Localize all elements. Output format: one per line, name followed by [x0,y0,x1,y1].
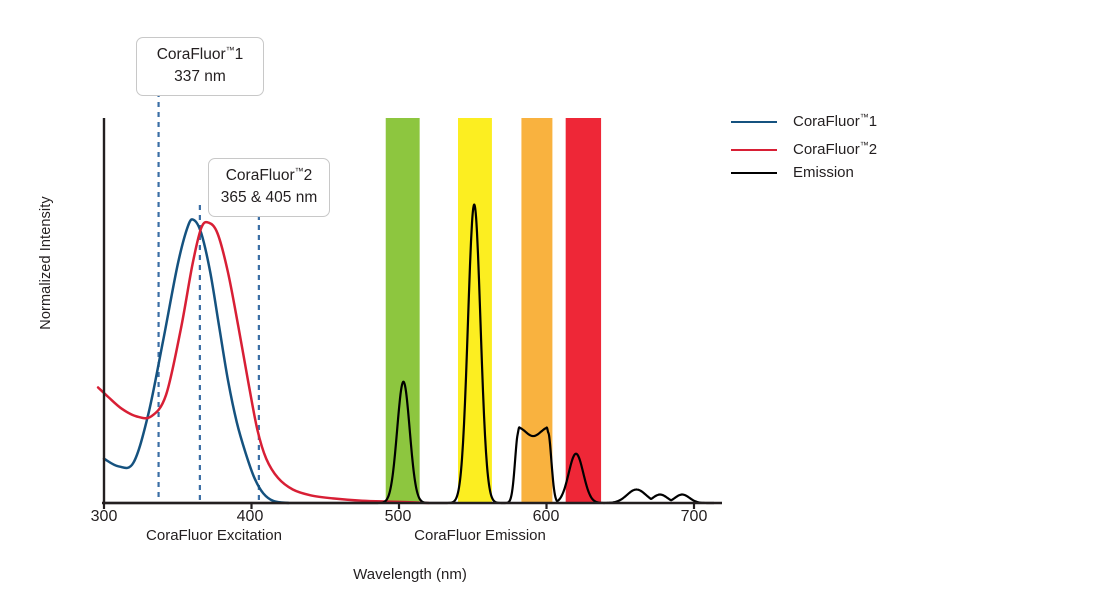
x-tick-300: 300 [74,508,134,526]
green-band [386,118,420,503]
legend-label-1: CoraFluor™2 [793,141,877,158]
x-tick-600: 600 [516,508,576,526]
red-band [566,118,601,503]
orange-band [521,118,552,503]
x-tick-400: 400 [220,508,280,526]
callout-1-line1: CoraFluor™1 [147,44,253,66]
curve-corafluor-1 [104,219,288,503]
x-tick-700: 700 [664,508,724,526]
legend-item-emission: Emission [731,164,854,181]
legend-swatch-line-1 [731,149,777,151]
x-tick-500: 500 [368,508,428,526]
legend-item-corafluor-1: CoraFluor™1 [731,113,877,130]
legend-label-2: Emission [793,164,854,181]
callout-corafluor-2: CoraFluor™2 365 & 405 nm [208,158,330,217]
callout-1-line2: 337 nm [147,66,253,88]
plot-area: Normalized Intensity 300 400 500 600 700… [0,0,730,612]
section-label-excitation: CoraFluor Excitation [134,527,294,544]
legend-swatch-line-0 [731,121,777,123]
chart-root: Normalized Intensity 300 400 500 600 700… [0,0,1110,612]
callout-2-line1: CoraFluor™2 [219,165,319,187]
legend-panel: CoraFluor™1 CoraFluor™2 Emission Compati… [730,0,1110,612]
legend-item-corafluor-2: CoraFluor™2 [731,141,877,158]
callout-corafluor-1: CoraFluor™1 337 nm [136,37,264,96]
legend-swatch-line-2 [731,172,777,174]
x-axis-label: Wavelength (nm) [280,566,540,583]
y-axis-label: Normalized Intensity [38,173,54,353]
legend-label-0: CoraFluor™1 [793,113,877,130]
section-label-emission: CoraFluor Emission [400,527,560,544]
callout-2-line2: 365 & 405 nm [219,187,319,209]
curve-corafluor-2 [98,222,428,503]
